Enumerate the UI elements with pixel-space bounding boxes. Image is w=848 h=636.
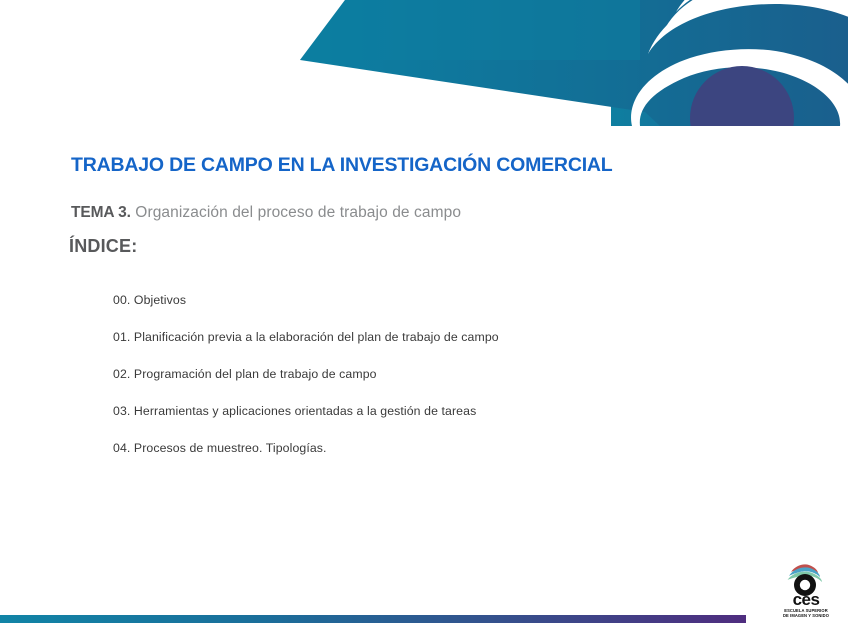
ces-logo-tagline-line2: DE IMAGEN Y SONIDO xyxy=(783,613,830,618)
banner-wedge-highlight xyxy=(300,0,640,60)
footer-gradient-bar xyxy=(0,615,746,623)
subtitle-topic-text: Organización del proceso de trabajo de c… xyxy=(131,204,461,221)
list-item: 00. Objetivos xyxy=(113,294,499,331)
header-banner-svg xyxy=(0,0,848,126)
footer-bar-svg xyxy=(0,615,746,623)
ces-logo-wordmark: ces xyxy=(793,590,820,609)
ces-logo: ces ESCUELA SUPERIOR DE IMAGEN Y SONIDO xyxy=(775,558,837,620)
slide-title: TRABAJO DE CAMPO EN LA INVESTIGACIÓN COM… xyxy=(71,154,613,177)
ces-logo-svg: ces ESCUELA SUPERIOR DE IMAGEN Y SONIDO xyxy=(775,558,837,620)
ces-logo-eye-pupil xyxy=(800,580,810,590)
list-item: 03. Herramientas y aplicaciones orientad… xyxy=(113,405,499,442)
list-item: 01. Planificación previa a la elaboració… xyxy=(113,331,499,368)
footer-bar-fill xyxy=(0,615,746,623)
list-item: 04. Procesos de muestreo. Tipologías. xyxy=(113,442,499,479)
slide-subtitle: TEMA 3. Organización del proceso de trab… xyxy=(71,204,461,222)
subtitle-topic-label: TEMA 3. xyxy=(71,204,131,221)
index-list: 00. Objetivos 01. Planificación previa a… xyxy=(113,294,499,479)
header-banner-graphic xyxy=(0,0,848,126)
index-heading: ÍNDICE: xyxy=(69,236,137,257)
list-item: 02. Programación del plan de trabajo de … xyxy=(113,368,499,405)
